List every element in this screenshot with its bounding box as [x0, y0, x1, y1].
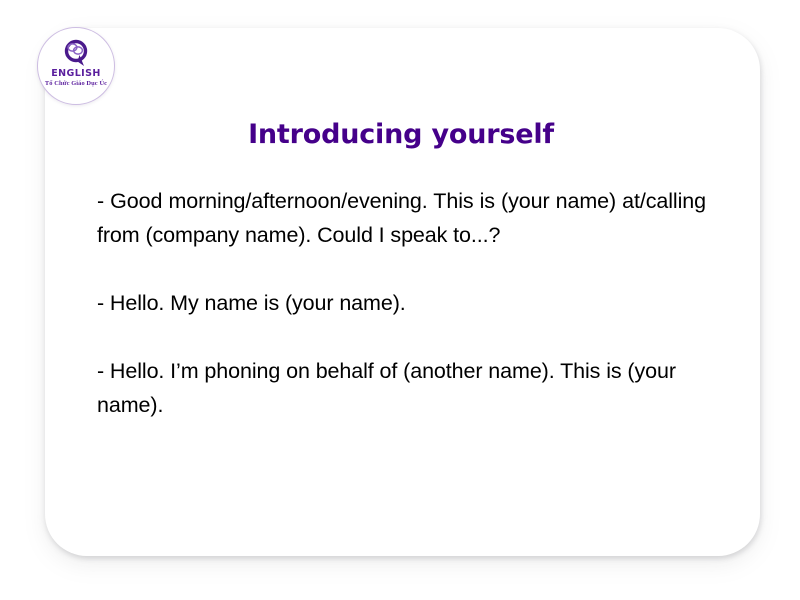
- logo-brand-name: ENGLISH: [51, 69, 100, 79]
- paragraph-spacer: [97, 252, 706, 286]
- page-title: Introducing yourself: [97, 120, 705, 150]
- q-monogram-icon: [59, 37, 93, 67]
- body-paragraph-3: - Hello. I’m phoning on behalf of (anoth…: [97, 354, 706, 422]
- presentation-slide: ENGLISH Tổ Chức Giáo Dục Úc Introducing …: [0, 0, 800, 600]
- logo-tagline: Tổ Chức Giáo Dục Úc: [45, 81, 107, 87]
- body-paragraph-1: - Good morning/afternoon/evening. This i…: [97, 184, 706, 252]
- paragraph-spacer: [97, 320, 706, 354]
- body-paragraph-2: - Hello. My name is (your name).: [97, 286, 706, 320]
- brand-logo-badge[interactable]: ENGLISH Tổ Chức Giáo Dục Úc: [37, 27, 115, 105]
- slide-body: - Good morning/afternoon/evening. This i…: [97, 184, 706, 422]
